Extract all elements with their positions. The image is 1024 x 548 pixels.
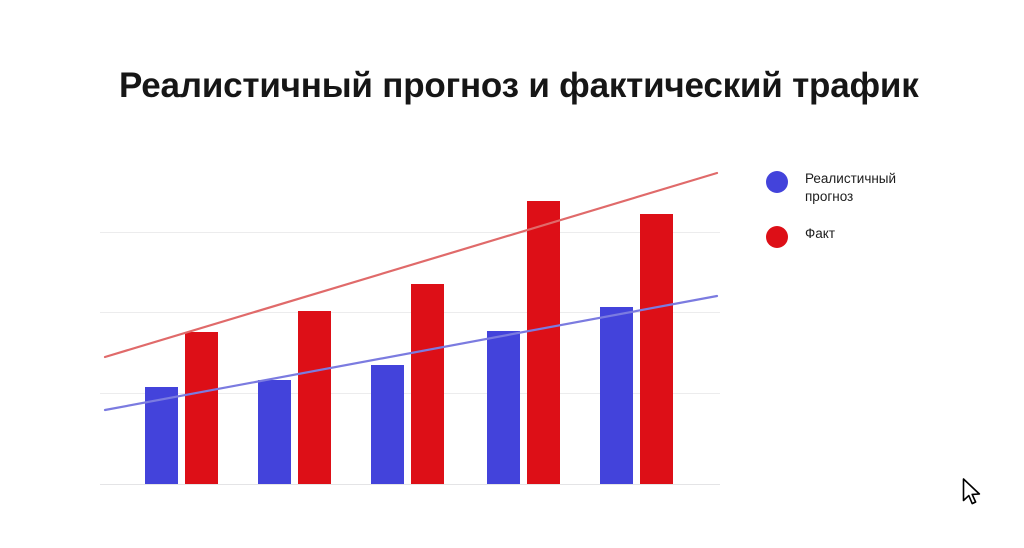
slide-canvas: Реалистичный прогноз и фактический трафи…: [0, 0, 1024, 548]
page-title: Реалистичный прогноз и фактический трафи…: [119, 64, 979, 108]
chart-legend: Реалистичный прогноз Факт: [766, 170, 996, 267]
legend-item-actual[interactable]: Факт: [766, 225, 996, 248]
trendline-actual: [105, 173, 717, 357]
legend-circle-icon-actual: [766, 226, 788, 248]
legend-label-actual: Факт: [805, 225, 835, 243]
arrow-pointer-icon: [962, 478, 984, 508]
chart-plot-area: [100, 150, 725, 500]
trendlines-layer: [100, 150, 725, 500]
legend-circle-icon-forecast: [766, 171, 788, 193]
legend-label-forecast: Реалистичный прогноз: [805, 170, 925, 206]
legend-item-forecast[interactable]: Реалистичный прогноз: [766, 170, 996, 206]
trendline-forecast: [105, 296, 717, 410]
